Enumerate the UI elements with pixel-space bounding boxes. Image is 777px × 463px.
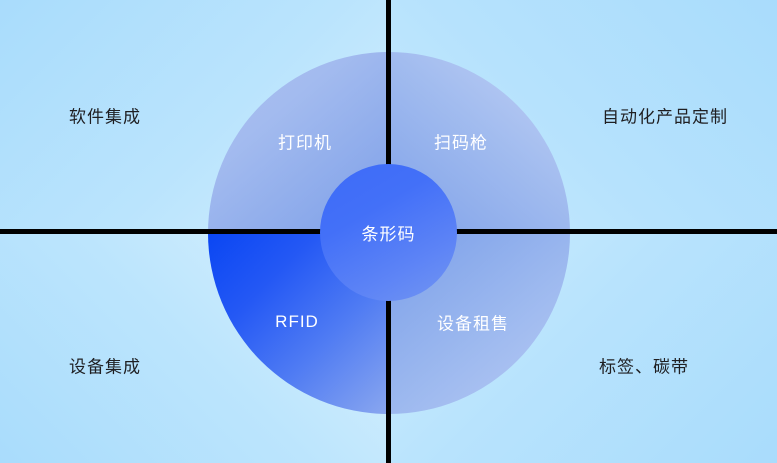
center-circle[interactable]: 条形码 [320,164,457,301]
outer-label-software-integration: 软件集成 [69,103,141,128]
ring-label-equipment-rental: 设备租售 [437,310,509,335]
outer-label-automation-customization: 自动化产品定制 [602,103,728,128]
outer-label-labels-ribbons: 标签、碳带 [599,353,689,378]
center-circle-label: 条形码 [362,220,416,245]
diagram-canvas: 条形码 打印机 扫码枪 RFID 设备租售 软件集成 自动化产品定制 设备集成 … [0,0,777,463]
ring-label-scanner: 扫码枪 [434,129,488,154]
outer-label-equipment-integration: 设备集成 [69,353,141,378]
ring-label-rfid: RFID [275,312,319,332]
ring-label-printer: 打印机 [278,129,332,154]
